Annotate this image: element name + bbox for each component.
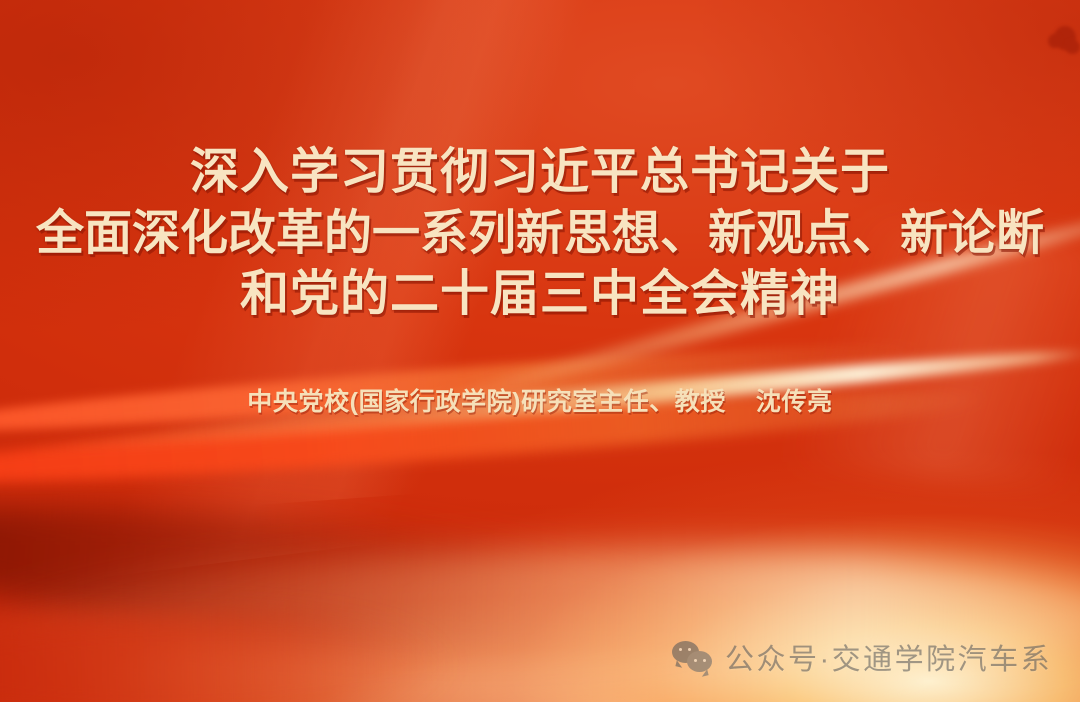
title-line-1: 深入学习贯彻习近平总书记关于	[0, 142, 1080, 203]
speaker-credit-line: 中央党校(国家行政学院)研究室主任、教授沈传亮	[0, 382, 1080, 418]
title-line-3: 和党的二十届三中全会精神	[0, 264, 1080, 325]
title-line-2: 全面深化改革的一系列新思想、新观点、新论断	[0, 203, 1080, 264]
watermark-text: 公众号·交通学院汽车系	[725, 636, 1052, 678]
speaker-affiliation: 中央党校(国家行政学院)研究室主任、教授	[247, 388, 726, 416]
title-block: 深入学习贯彻习近平总书记关于 全面深化改革的一系列新思想、新观点、新论断 和党的…	[0, 142, 1080, 325]
wechat-watermark: 公众号·交通学院汽车系	[672, 636, 1052, 678]
wechat-icon	[672, 640, 714, 674]
speaker-name: 沈传亮	[756, 388, 833, 416]
slide-content: 深入学习贯彻习近平总书记关于 全面深化改革的一系列新思想、新观点、新论断 和党的…	[0, 0, 1080, 702]
slide-canvas: 深入学习贯彻习近平总书记关于 全面深化改革的一系列新思想、新观点、新论断 和党的…	[0, 0, 1080, 702]
